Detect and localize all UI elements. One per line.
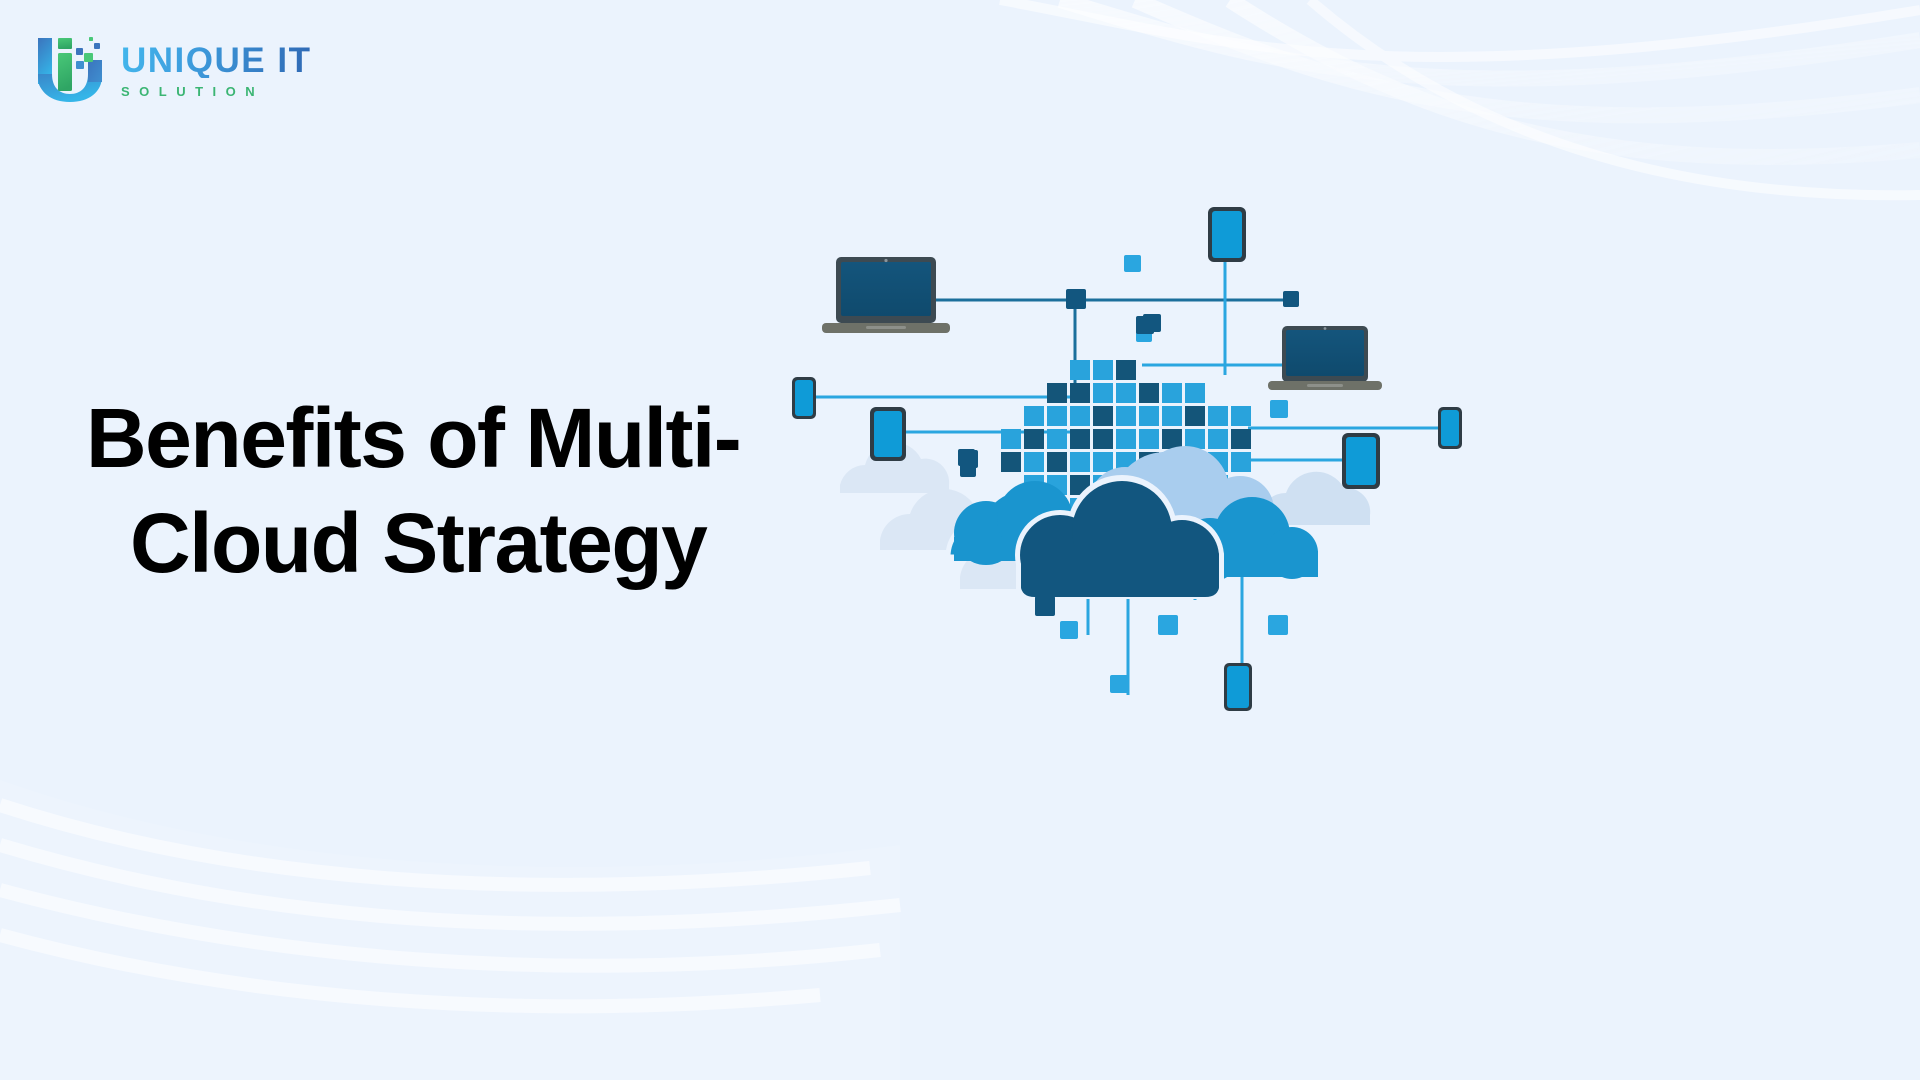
page-root: UNIQUE IT SOLUTION Benefits of Multi- Cl… xyxy=(0,0,1920,1080)
tablet-top-right-icon xyxy=(1208,207,1246,262)
phone-bottom-icon xyxy=(1224,663,1252,711)
unique-it-u-monogram-icon xyxy=(32,30,108,106)
page-title: Benefits of Multi- Cloud Strategy xyxy=(86,386,806,596)
phone-right-icon xyxy=(1342,433,1380,489)
phone-far-left-icon xyxy=(792,377,816,419)
phone-far-right-icon xyxy=(1438,407,1462,449)
laptop-right-icon xyxy=(1268,326,1382,390)
page-title-line-2: Cloud Strategy xyxy=(86,491,806,596)
multi-cloud-network-illustration xyxy=(770,185,1490,725)
brand-tagline: SOLUTION xyxy=(121,85,311,98)
brand-logo[interactable]: UNIQUE IT SOLUTION xyxy=(32,30,311,106)
laptop-top-left-icon xyxy=(822,257,950,333)
page-title-line-1: Benefits of Multi- xyxy=(86,391,740,485)
brand-wordmark: UNIQUE IT xyxy=(121,43,311,78)
phone-left-icon xyxy=(870,407,906,461)
connector-nodes xyxy=(1066,289,1299,342)
brand-logo-text: UNIQUE IT SOLUTION xyxy=(121,39,311,98)
